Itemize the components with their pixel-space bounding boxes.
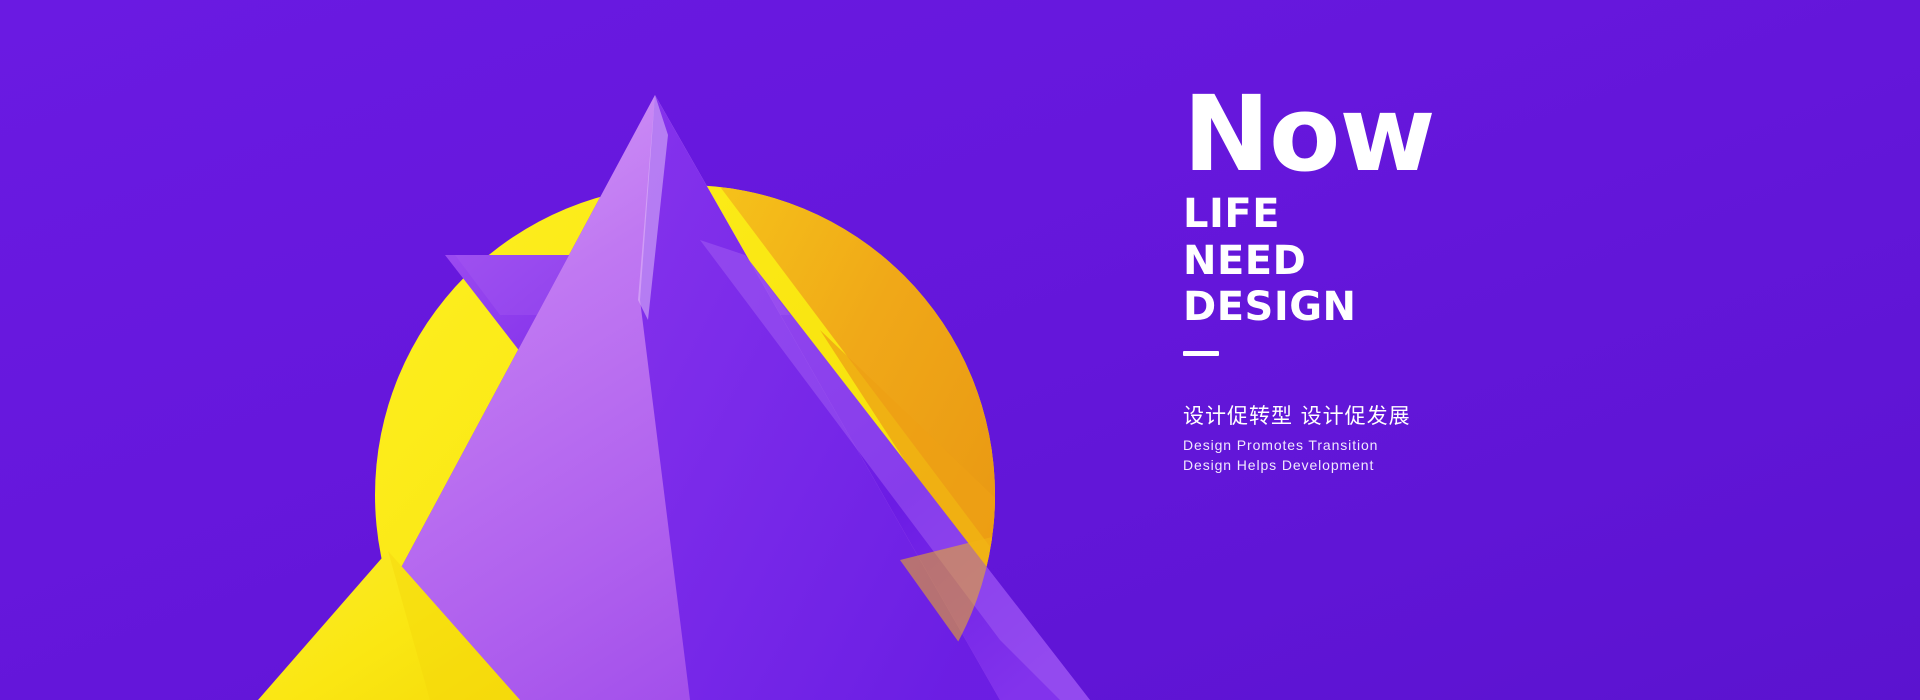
hero-copy-block: Now LIFE NEED DESIGN 设计促转型 设计促发展 Design … xyxy=(1183,90,1823,474)
tagline-english-line-2: Design Helps Development xyxy=(1183,457,1823,475)
headline-line-life: LIFE xyxy=(1183,193,1823,236)
tagline-chinese: 设计促转型 设计促发展 xyxy=(1183,404,1823,429)
divider-rule xyxy=(1183,351,1219,356)
headline-line-need: NEED xyxy=(1183,240,1823,283)
headline-line-design: DESIGN xyxy=(1183,286,1823,329)
tagline-english-line-1: Design Promotes Transition xyxy=(1183,437,1823,455)
hero-banner: Now LIFE NEED DESIGN 设计促转型 设计促发展 Design … xyxy=(0,0,1920,700)
wordmark-now: Now xyxy=(1183,90,1823,179)
